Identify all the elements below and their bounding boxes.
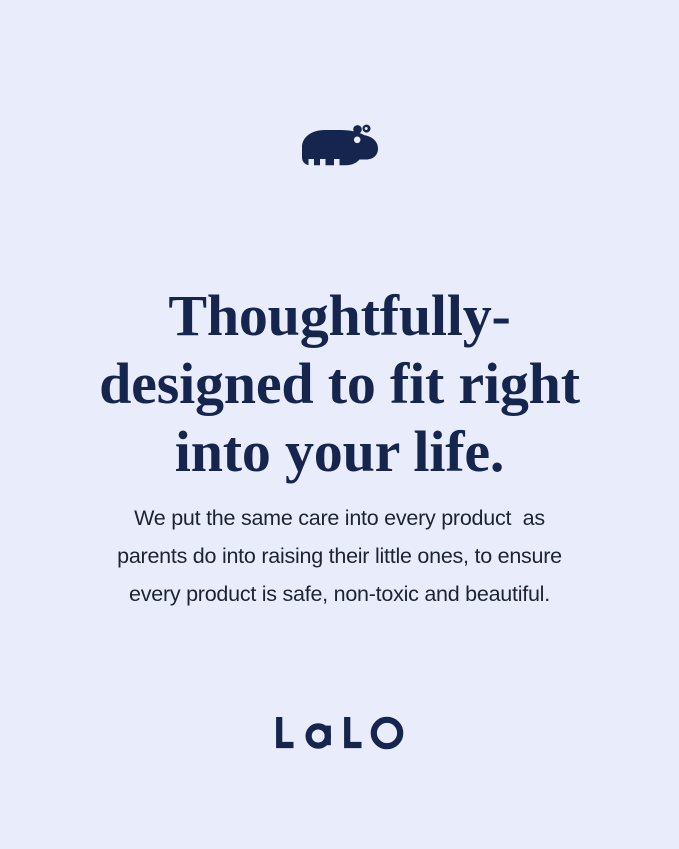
body-line-1: We put the same care into every product … — [70, 499, 609, 537]
headline-line-1: Thoughtfully- — [40, 282, 639, 350]
body-line-2: parents do into raising their little one… — [70, 537, 609, 575]
headline-line-3: into your life. — [40, 418, 639, 486]
logo-container — [0, 118, 679, 174]
headline-line-2: designed to fit right — [40, 350, 639, 418]
lalo-wordmark-icon — [274, 711, 406, 751]
hippo-logo-icon — [300, 123, 380, 169]
body-paragraph: We put the same care into every product … — [0, 499, 679, 613]
hippo-eye — [353, 137, 360, 144]
body-line-3: every product is safe, non-toxic and bea… — [70, 575, 609, 613]
brand-card: Thoughtfully- designed to fit right into… — [0, 0, 679, 849]
brand-wordmark — [0, 706, 679, 756]
headline: Thoughtfully- designed to fit right into… — [0, 282, 679, 486]
hippo-ear-detail — [364, 127, 367, 130]
